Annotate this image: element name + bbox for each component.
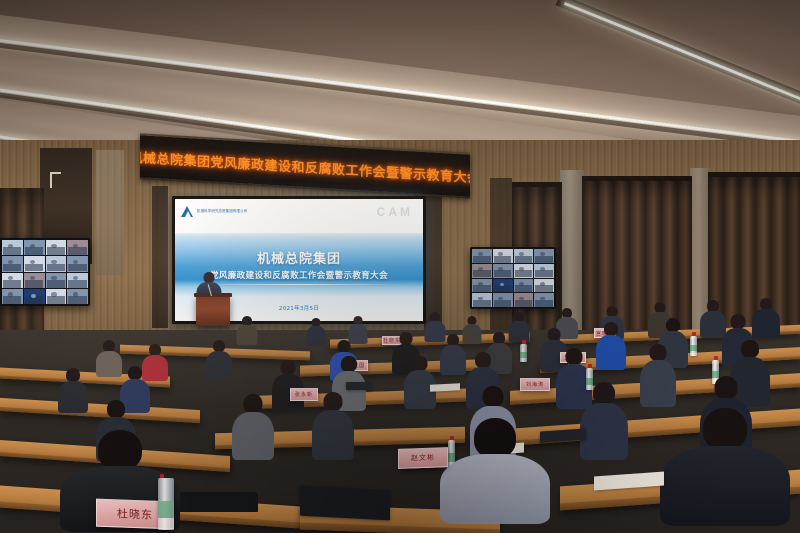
attendee [752, 298, 780, 336]
video-cell [514, 249, 534, 263]
attendee [232, 394, 274, 456]
video-cell [534, 293, 554, 307]
attendee-head [483, 386, 504, 407]
laptop-bag [300, 486, 390, 521]
video-cell [2, 273, 23, 288]
attendee-head [566, 348, 583, 365]
door-handle-icon[interactable] [50, 172, 52, 188]
wall-pillar [96, 150, 124, 275]
video-cell [472, 293, 492, 307]
attendee-head [98, 430, 142, 470]
attendee-body [232, 412, 274, 460]
video-cell [2, 240, 23, 255]
name-placard: 刘海涛 [520, 378, 550, 391]
attendee-head [413, 356, 428, 371]
attendee-body [596, 335, 626, 370]
podium [196, 296, 230, 326]
video-cell [534, 279, 554, 293]
water-bottle [158, 478, 174, 530]
attendee [306, 318, 326, 344]
video-cell [514, 279, 534, 293]
attendee [404, 356, 436, 406]
attendee-head [604, 322, 618, 336]
attendee-head [703, 408, 747, 450]
attendee-head [281, 360, 296, 375]
attendee-foreground [440, 418, 550, 513]
attendee-body [580, 403, 628, 460]
attendee-head [474, 418, 516, 458]
attendee-head [666, 318, 680, 332]
attendee-head [341, 356, 357, 372]
curtain-rail [708, 172, 800, 177]
ceiling [0, 0, 800, 152]
attendee-body [307, 326, 326, 346]
attendee-body [440, 454, 550, 524]
video-cell [2, 256, 23, 271]
placard-text: 赵文彬 [411, 453, 435, 464]
video-cell [472, 264, 492, 278]
attendee-body [58, 381, 88, 413]
video-cell [46, 273, 67, 288]
name-placard: 赵文彬 [398, 447, 448, 469]
attendee [236, 316, 258, 342]
video-cell [24, 256, 45, 271]
video-cell [67, 273, 88, 288]
conference-hall-photo: 机械总院集团党风廉政建设和反腐败工作会暨警示教育大会 机械科学研究总院集团有限公… [0, 0, 800, 533]
attendee [348, 316, 368, 342]
video-cell [534, 264, 554, 278]
video-cell [493, 264, 513, 278]
attendee [580, 382, 628, 456]
video-cell [67, 256, 88, 271]
ceiling-shading [0, 0, 800, 152]
attendee-foreground [660, 408, 790, 518]
video-cell [514, 264, 534, 278]
attendee [206, 340, 232, 376]
slide-title: 机械总院集团 [175, 248, 423, 267]
water-bottle [520, 344, 527, 362]
attendee-head [475, 352, 491, 368]
attendee [440, 334, 466, 372]
curtain-rail [512, 182, 562, 187]
video-cell [2, 289, 23, 304]
logo-mark-icon [181, 206, 194, 217]
curtain-rail [582, 176, 692, 181]
placard-text: 张永新 [295, 391, 313, 398]
right-video-wall-monitor [470, 247, 556, 309]
attendee-head [107, 400, 125, 418]
attendee-head [741, 340, 759, 358]
wall-recess [152, 186, 168, 328]
video-conference-grid [2, 240, 88, 304]
video-cell-host [24, 289, 45, 304]
attendee-body [640, 360, 676, 407]
attendee-head [715, 376, 738, 399]
attendee [96, 340, 122, 374]
video-cell [472, 279, 492, 293]
video-cell [493, 249, 513, 263]
video-cell [46, 240, 67, 255]
attendee-head [731, 314, 746, 329]
attendee-body [96, 351, 122, 377]
wall-recess [424, 176, 442, 332]
logo-text: 机械科学研究总院集团有限公司 [197, 210, 247, 213]
attendee-body [312, 410, 354, 460]
podium-top [194, 293, 232, 297]
attendee-head [324, 392, 343, 411]
video-cell-host [493, 279, 513, 293]
attendee [640, 344, 676, 404]
video-cell [24, 273, 45, 288]
company-logo: 机械科学研究总院集团有限公司 [181, 206, 247, 217]
attendee-head [244, 394, 263, 413]
video-cell [46, 289, 67, 304]
attendee-head [593, 382, 615, 404]
attendee-body [237, 325, 258, 345]
attendee [312, 392, 354, 456]
attendee-head [66, 368, 80, 382]
video-cell [472, 249, 492, 263]
placard-text: 刘海涛 [526, 381, 544, 388]
video-cell [67, 240, 88, 255]
attendee-head [128, 366, 142, 380]
attendee-body [660, 446, 790, 526]
placard-text: 杜晓东 [117, 505, 153, 522]
attendee-head [650, 344, 667, 361]
video-conference-grid [472, 249, 554, 307]
video-cell [46, 256, 67, 271]
led-banner-text: 机械总院集团党风廉政建设和反腐败工作会暨警示教育大会 [140, 146, 470, 186]
slide-divider [195, 284, 403, 285]
attendee-body [206, 351, 232, 379]
video-cell [67, 289, 88, 304]
video-cell [534, 249, 554, 263]
video-cell [24, 240, 45, 255]
video-cell [514, 293, 534, 307]
attendee-body [440, 345, 466, 375]
left-video-wall-monitor [0, 238, 90, 306]
slide-watermark: CAM [377, 205, 413, 219]
video-cell [493, 293, 513, 307]
attendee-body [752, 309, 780, 338]
attendee [58, 368, 88, 410]
tablet-device [346, 382, 372, 390]
attendee [596, 322, 626, 368]
water-bottle [690, 336, 697, 356]
